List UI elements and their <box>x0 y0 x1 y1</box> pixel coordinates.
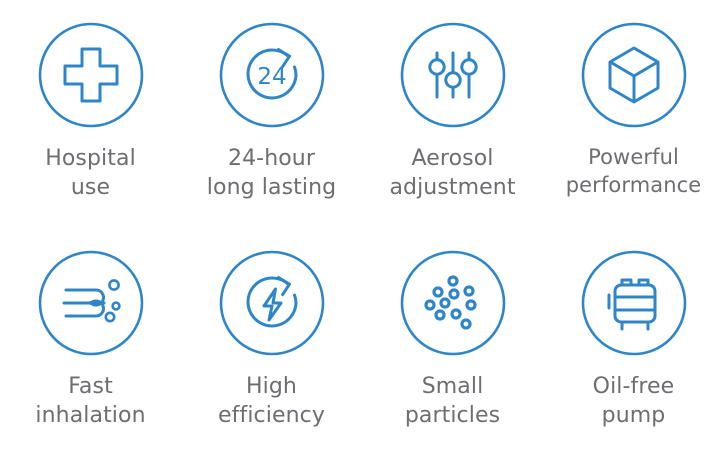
icon-circle-high-efficiency <box>219 250 325 356</box>
lightning-bolt-refresh-icon <box>219 250 325 356</box>
feature-label: Small particles <box>405 372 500 431</box>
feature-item-oil-free-pump: Oil-free pump <box>543 228 724 456</box>
feature-label: Aerosol adjustment <box>389 144 515 203</box>
feature-label: Hospital use <box>45 144 136 203</box>
feature-grid: Hospital use 24 24-hour long lasting <box>0 0 724 456</box>
medical-cross-icon <box>38 22 144 128</box>
particles-dots-icon <box>400 250 506 356</box>
feature-item-fast-inhalation: Fast inhalation <box>0 228 181 456</box>
feature-item-small-particles: Small particles <box>362 228 543 456</box>
feature-label: Fast inhalation <box>35 372 145 431</box>
24-hour-clock-arrow-icon: 24 <box>219 22 325 128</box>
icon-circle-small-particles <box>400 250 506 356</box>
icon-circle-powerful-performance <box>581 22 687 128</box>
icon-circle-24-hour: 24 <box>219 22 325 128</box>
feature-label: 24-hour long lasting <box>207 144 336 203</box>
feature-label: High efficiency <box>218 372 325 431</box>
feature-item-hospital-use: Hospital use <box>0 0 181 228</box>
feature-item-aerosol-adjustment: Aerosol adjustment <box>362 0 543 228</box>
feature-label: Oil-free pump <box>593 372 675 431</box>
feature-item-24-hour: 24 24-hour long lasting <box>181 0 362 228</box>
feature-label: Powerful performance <box>566 144 702 200</box>
icon-circle-oil-free-pump <box>581 250 687 356</box>
icon-text-24: 24 <box>257 64 286 90</box>
icon-circle-hospital-use <box>38 22 144 128</box>
wind-airflow-icon <box>38 250 144 356</box>
feature-item-powerful-performance: Powerful performance <box>543 0 724 228</box>
air-pump-icon <box>581 250 687 356</box>
feature-item-high-efficiency: High efficiency <box>181 228 362 456</box>
cube-box-icon <box>581 22 687 128</box>
icon-circle-aerosol-adjustment <box>400 22 506 128</box>
icon-circle-fast-inhalation <box>38 250 144 356</box>
sliders-adjustment-icon <box>400 22 506 128</box>
